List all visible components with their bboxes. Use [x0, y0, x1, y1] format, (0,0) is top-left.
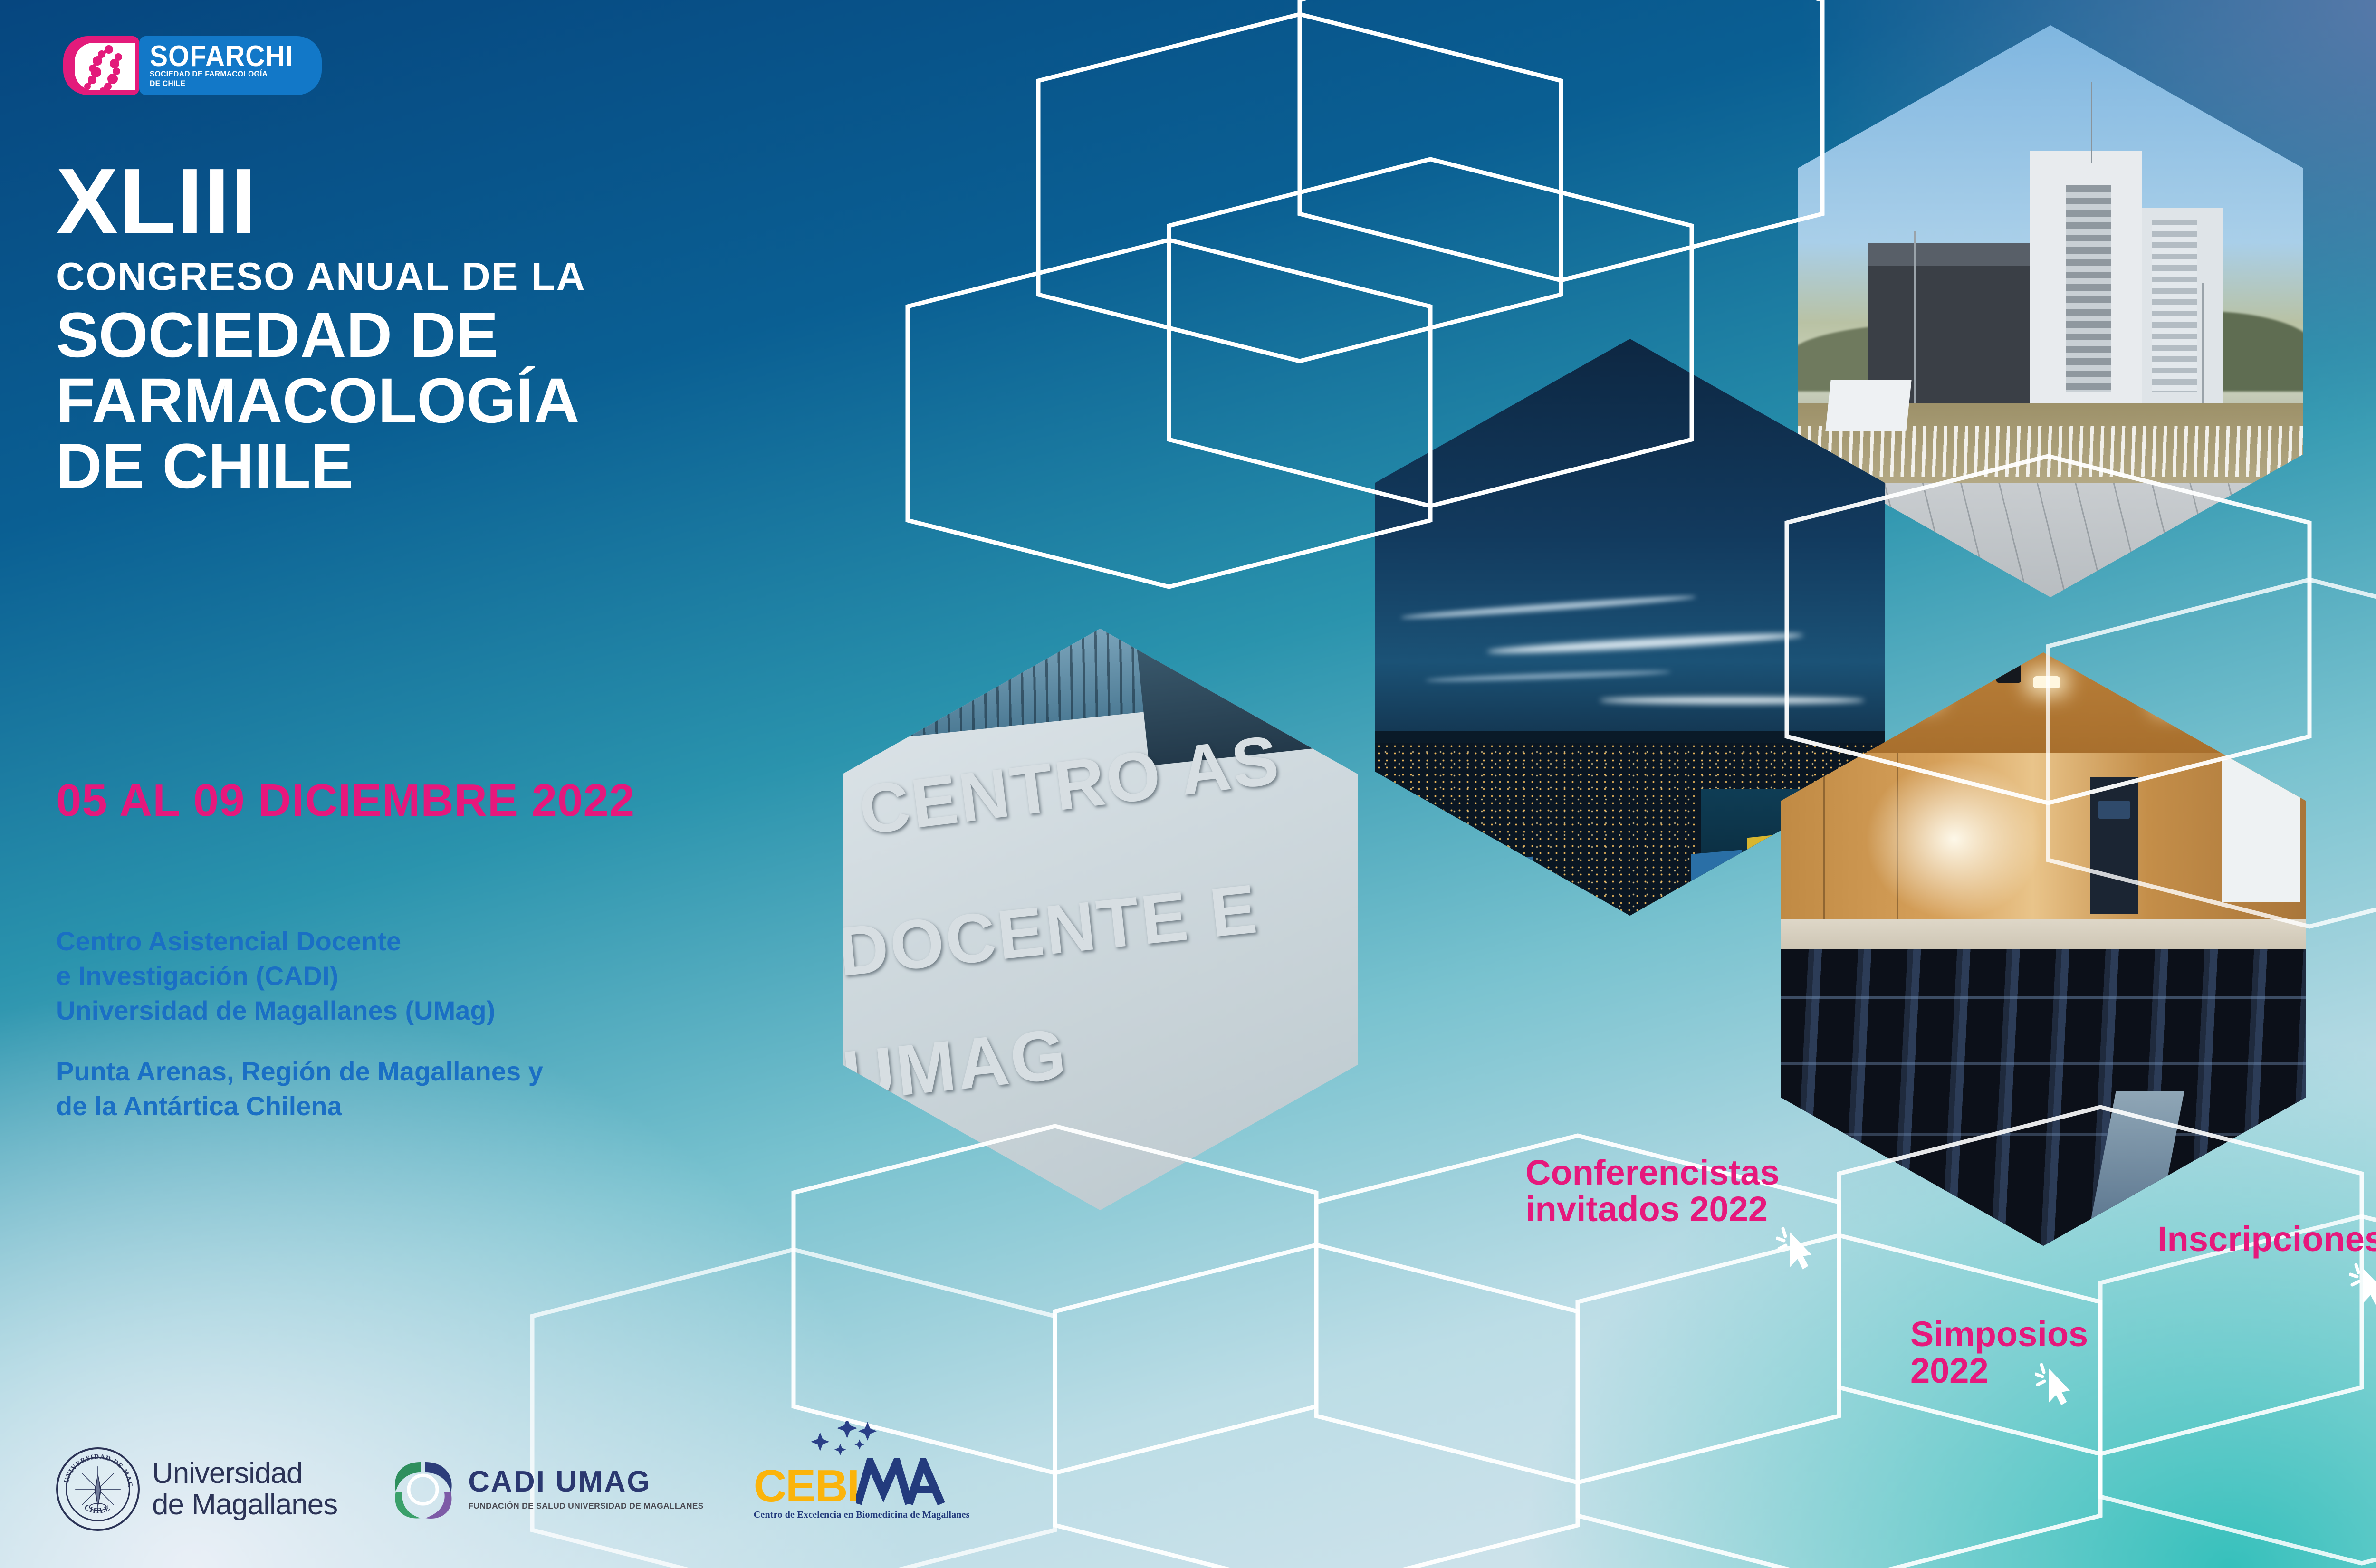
title-main: SOCIEDAD DE FARMACOLOGÍA DE CHILE: [56, 303, 1030, 499]
cursor-click-icon: [1776, 1226, 1813, 1270]
title-roman-numeral: XLIII: [56, 157, 1030, 246]
cadi-tagline: FUNDACIÓN DE SALUD UNIVERSIDAD DE MAGALL…: [468, 1501, 703, 1511]
molecule-icon: [75, 43, 131, 90]
cebima-name-part-1: CEBI: [754, 1467, 859, 1506]
cta-simposios[interactable]: Simposios 2022: [1910, 1316, 2088, 1389]
sofarchi-name: SOFARCHI: [150, 44, 293, 69]
umag-seal-text: UNIVERSIDAD DE MAGALLANES CHILE: [58, 1449, 138, 1529]
cta-simposios-line-1: Simposios: [1910, 1316, 2088, 1353]
sofarchi-subtitle-2: DE CHILE: [150, 79, 293, 88]
cadi-wordmark: CADI UMAG FUNDACIÓN DE SALUD UNIVERSIDAD…: [468, 1467, 703, 1511]
congress-poster: CENTRO AS DOCENTE E UMAG: [0, 0, 2376, 1568]
sponsor-universidad-de-magallanes: UNIVERSIDAD DE MAGALLANES CHILE Universi…: [56, 1447, 337, 1531]
svg-text:UNIVERSIDAD DE MAGALLANES: UNIVERSIDAD DE MAGALLANES: [58, 1449, 134, 1488]
sofarchi-wordmark: SOFARCHI SOCIEDAD DE FARMACOLOGÍA DE CHI…: [139, 36, 322, 95]
cursor-click-icon: [2035, 1362, 2072, 1405]
cebima-tagline: Centro de Excelencia en Biomedicina de M…: [754, 1510, 970, 1520]
southern-cross-stars-icon: [805, 1421, 905, 1463]
umag-name-line-2: de Magallanes: [152, 1489, 337, 1520]
cta-inscripciones[interactable]: Inscripciones: [2157, 1221, 2376, 1258]
cebima-name-part-2-icon: [856, 1458, 945, 1506]
cta-conferencistas-line-2: invitados 2022: [1525, 1191, 1780, 1228]
sofarchi-subtitle-1: SOCIEDAD DE FARMACOLOGÍA: [150, 70, 293, 78]
venue-information: Centro Asistencial Docente e Investigaci…: [56, 924, 543, 1124]
photo-hex-auditorium: [1775, 646, 2312, 1252]
congress-dates: 05 AL 09 DICIEMBRE 2022: [56, 774, 635, 827]
sofarchi-logo-mark: [63, 36, 139, 95]
venue-line-1: Centro Asistencial Docente: [56, 924, 543, 959]
poster-title-block: XLIII CONGRESO ANUAL DE LA SOCIEDAD DE F…: [56, 157, 1030, 499]
venue-line-3: Universidad de Magallanes (UMag): [56, 994, 543, 1028]
sponsor-cebima: CEBI Centro de Excelencia en Biomedicina…: [754, 1458, 970, 1520]
title-main-line-1: SOCIEDAD DE: [56, 303, 1030, 368]
cadi-name: CADI UMAG: [468, 1467, 703, 1497]
title-kicker: CONGRESO ANUAL DE LA: [56, 257, 1030, 296]
cebima-wordmark: CEBI: [754, 1458, 970, 1506]
cta-conferencistas-invitados[interactable]: Conferencistas invitados 2022: [1525, 1155, 1780, 1228]
sponsor-cadi-umag: CADI UMAG FUNDACIÓN DE SALUD UNIVERSIDAD…: [387, 1453, 703, 1525]
venue-spacer: [56, 1028, 543, 1054]
cadi-swirl-icon: [387, 1453, 459, 1525]
venue-line-4: Punta Arenas, Región de Magallanes y: [56, 1054, 543, 1089]
cursor-click-icon: [2349, 1262, 2376, 1306]
venue-line-2: e Investigación (CADI): [56, 959, 543, 994]
title-main-line-3: DE CHILE: [56, 434, 1030, 499]
umag-name-line-1: Universidad: [152, 1458, 337, 1489]
svg-text:CHILE: CHILE: [83, 1503, 112, 1515]
umag-wordmark: Universidad de Magallanes: [152, 1458, 337, 1520]
umag-seal-icon: UNIVERSIDAD DE MAGALLANES CHILE: [56, 1447, 140, 1531]
title-main-line-2: FARMACOLOGÍA: [56, 368, 1030, 434]
sofarchi-logo: SOFARCHI SOCIEDAD DE FARMACOLOGÍA DE CHI…: [63, 36, 322, 95]
cta-conferencistas-line-1: Conferencistas: [1525, 1155, 1780, 1191]
venue-line-5: de la Antártica Chilena: [56, 1089, 543, 1124]
sponsor-logo-row: UNIVERSIDAD DE MAGALLANES CHILE Universi…: [56, 1447, 970, 1531]
cta-inscripciones-line-1: Inscripciones: [2157, 1221, 2376, 1258]
